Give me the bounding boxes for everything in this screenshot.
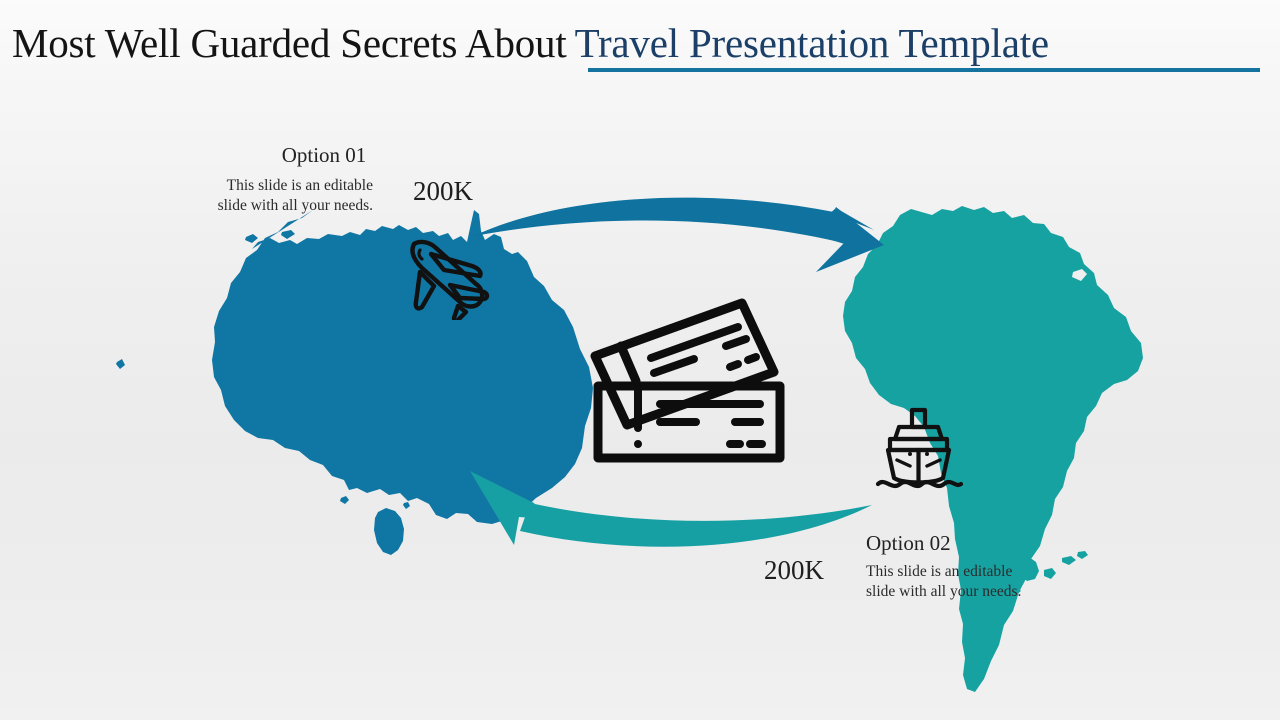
page-title-plain: Most Well Guarded Secrets About [12, 20, 567, 66]
tickets-icon [588, 294, 792, 466]
airplane-icon [398, 228, 494, 320]
arrow-left-curved [470, 471, 872, 547]
title-underline-rule [588, 68, 1260, 72]
slide-canvas: Most Well Guarded Secrets AboutTravel Pr… [0, 0, 1280, 720]
option-01-heading: Option 01 [235, 142, 413, 168]
option-01-body: This slide is an editable slide with all… [215, 176, 373, 215]
page-title-accent: Travel Presentation Template [575, 20, 1049, 66]
australia-map [116, 210, 593, 555]
ship-icon [872, 404, 966, 498]
arrow-right-curved [474, 198, 884, 272]
option-02-body: This slide is an editable slide with all… [866, 562, 1036, 601]
page-title: Most Well Guarded Secrets AboutTravel Pr… [12, 14, 1268, 76]
option-02-metric: 200K [764, 554, 854, 586]
option-01-metric: 200K [413, 175, 503, 207]
option-02-heading: Option 02 [866, 530, 1044, 556]
